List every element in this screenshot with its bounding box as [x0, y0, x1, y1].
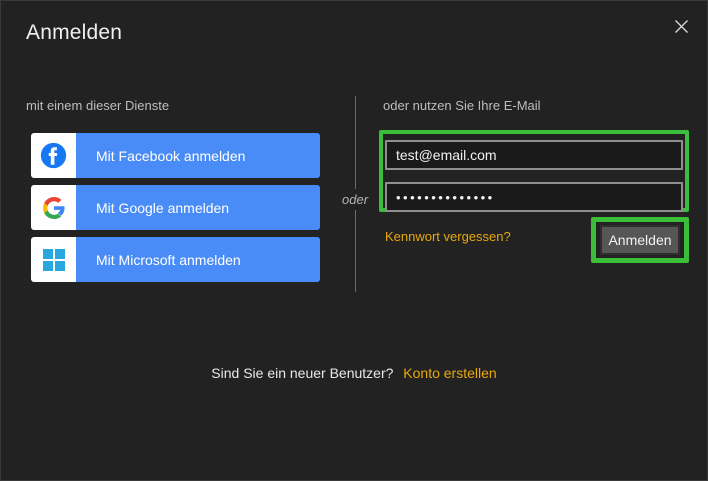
facebook-login-label: Mit Facebook anmelden: [76, 148, 245, 164]
login-dialog: Anmelden mit einem dieser Dienste Mit Fa…: [0, 0, 708, 481]
password-field[interactable]: [385, 182, 683, 212]
forgot-password-link[interactable]: Kennwort vergessen?: [385, 229, 511, 244]
facebook-icon: [31, 133, 76, 178]
microsoft-login-button[interactable]: Mit Microsoft anmelden: [31, 237, 320, 282]
social-section-heading: mit einem dieser Dienste: [26, 98, 169, 113]
google-login-button[interactable]: Mit Google anmelden: [31, 185, 320, 230]
google-login-label: Mit Google anmelden: [76, 200, 229, 216]
close-icon[interactable]: [667, 12, 695, 40]
signup-question: Sind Sie ein neuer Benutzer?: [211, 365, 393, 381]
microsoft-login-label: Mit Microsoft anmelden: [76, 252, 241, 268]
signup-prompt: Sind Sie ein neuer Benutzer? Konto erste…: [1, 365, 707, 381]
facebook-login-button[interactable]: Mit Facebook anmelden: [31, 133, 320, 178]
submit-login-button[interactable]: Anmelden: [600, 225, 680, 255]
google-icon: [31, 185, 76, 230]
email-field[interactable]: [385, 140, 683, 170]
page-title: Anmelden: [26, 21, 122, 45]
divider-label: oder: [340, 189, 370, 210]
microsoft-icon: [31, 237, 76, 282]
create-account-link[interactable]: Konto erstellen: [403, 365, 496, 381]
social-login-list: Mit Facebook anmelden Mit Google anmelde…: [31, 133, 320, 289]
email-section-heading: oder nutzen Sie Ihre E-Mail: [383, 98, 541, 113]
